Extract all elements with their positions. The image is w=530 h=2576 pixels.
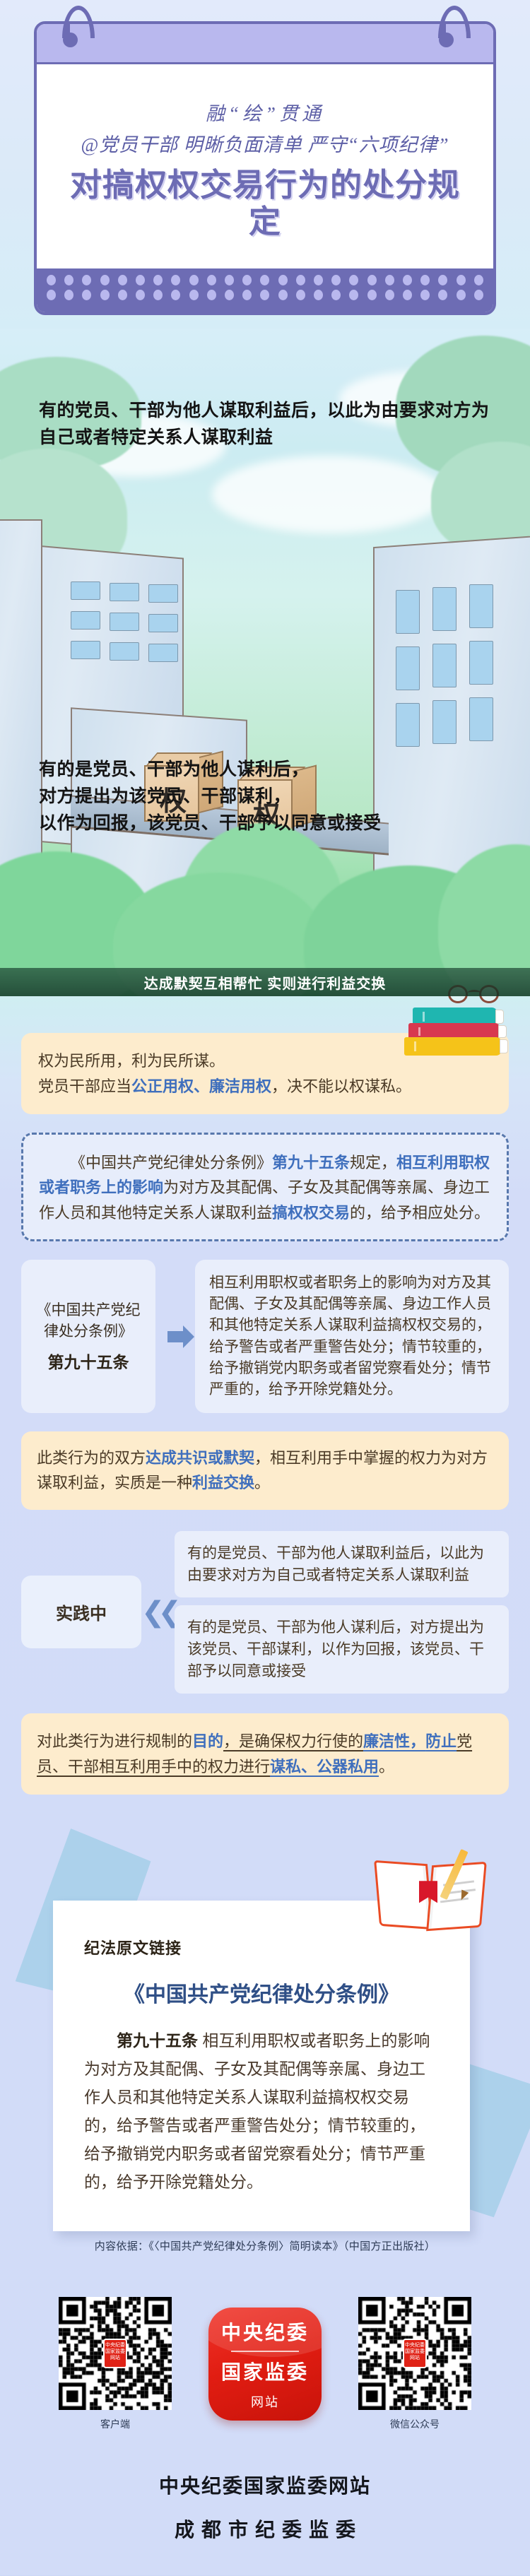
window [432,587,457,631]
app-logo-line2: 国家监委 [221,2357,309,2385]
practice-label: 实践中 [21,1576,141,1648]
law-label-article-no: 第九十五条 [48,1349,129,1373]
illustration-text-bottom-line3: 以作为回报，该党员、干部予以同意或接受 [39,810,498,837]
arrow-right-icon [155,1260,195,1413]
window [148,614,178,632]
purpose-part-b: ，是确保权力行使的 [223,1732,363,1750]
principle-hl-clean-power: 廉洁用权 [209,1077,271,1095]
practice-item-1: 有的是党员、干部为他人谋取利益后，以此为由要求对方为自己或者特定关系人谋取利益 [175,1531,509,1597]
window [469,641,493,685]
window [71,581,100,600]
nature-callout-box: 此类行为的双方达成共识或默契，相互利用手中掌握的权力为对方谋取利益，实质是一种利… [21,1431,509,1509]
book-stack-icon [407,988,513,1053]
window [432,700,457,744]
purpose-hl-goal: 目的 [192,1732,223,1750]
practice-section: 实践中 ❮❮ 有的是党员、干部为他人谋取利益后，以此为由要求对方为自己或者特定关… [21,1531,509,1694]
dashbox-part-b: 规定， [350,1154,396,1171]
law-article-label: 《中国共产党纪 律处分条例》 第九十五条 [21,1260,155,1413]
dashbox-hl-power-trade: 搞权权交易 [272,1204,350,1222]
window [469,697,493,741]
book-yellow [404,1037,502,1056]
app-logo-divider [231,2351,299,2352]
law-article-text: 相互利用职权或者职务上的影响为对方及其配偶、子女及其配偶等亲属、身边工作人员和其… [195,1260,509,1413]
qr-logo-wechat-icon: 中央纪委国家监委网站 [403,2339,427,2368]
page-title: 对搞权权交易行为的处分规定 [55,167,475,240]
qr-block-wechat: 中央纪委国家监委网站 微信公众号 [358,2297,471,2431]
cloud-shape [212,456,445,533]
chevron-left-double-icon: ❮❮ [141,1598,175,1626]
purpose-hl-prevent: 防止 [425,1732,457,1750]
footer-qr-row: 中央纪委国家监委网站 客户端 中央纪委 国家监委 网站 中央纪委国家监委网站 微… [0,2297,530,2431]
law-original-title: 《中国共产党纪律处分条例》 [84,1977,439,2008]
nature-part-a: 此类行为的双方 [37,1449,146,1467]
dashbox-part-a: 《中国共产党纪律处分条例》 [70,1154,272,1171]
window [110,583,139,601]
app-logo: 中央纪委 国家监委 网站 [208,2308,322,2421]
purpose-part-d: 。 [379,1758,394,1776]
notebook-top-band [37,24,493,64]
nature-hl-consensus: 达成共识或默契 [146,1449,254,1467]
source-note: 内容依据：《〈中国共产党纪律处分条例〉简明读本》（中国方正出版社） [21,2238,509,2253]
law-article-row: 《中国共产党纪 律处分条例》 第九十五条 相互利用职权或者职务上的影响为对方及其… [21,1260,509,1413]
practice-item-2: 有的是党员、干部为他人谋利后，对方提出为该党员、干部谋利，以作为回报，该党员、干… [175,1605,509,1694]
window [148,644,178,662]
principle-hl-fair-power: 公正用权、 [131,1077,209,1095]
purpose-hl-integrity: 廉洁性， [363,1732,425,1750]
illustration-text-top: 有的党员、干部为他人谋取利益后，以此为由要求对方为自己或者特定关系人谋取利益 [39,397,491,451]
window [110,613,139,631]
purpose-part-a: 对此类行为进行规制的 [37,1732,192,1750]
dashbox-part-d: 的，给予相应处分。 [350,1204,490,1222]
law-label-line1: 《中国共产党纪 [37,1300,141,1321]
window [469,584,493,628]
app-logo-line3: 网站 [251,2392,279,2411]
illustration-section: 有的党员、干部为他人谋取利益后，以此为由要求对方为自己或者特定关系人谋取利益 [0,329,530,996]
nature-hl-interest-exchange: 利益交换 [192,1474,254,1491]
title-notebook-card: 融“绘”贯通 @党员干部 明晰负面清单 严守“六项纪律” 对搞权权交易行为的处分… [34,21,496,315]
illustration-caption-text: 达成默契互相帮忙 实则进行利益交换 [144,972,387,993]
header-subtitle-line2: @党员干部 明晰负面清单 严守“六项纪律” [55,129,475,157]
window [148,584,178,603]
law-original-body: 第九十五条 相互利用职权或者职务上的影响为对方及其配偶、子女及其配偶等亲属、身边… [84,2026,439,2196]
purpose-callout-box: 对此类行为进行规制的目的，是确保权力行使的廉洁性，防止党员、干部相互利用手中的权… [21,1713,509,1795]
footer-org-line1: 中央纪委国家监委网站 [0,2471,530,2499]
binder-ring-left-icon [62,6,95,61]
law-original-card: 纪法原文链接 《中国共产党纪律处分条例》 第九十五条 相互利用职权或者职务上的影… [53,1901,470,2231]
notebook-body: 融“绘”贯通 @党员干部 明晰负面清单 严守“六项纪律” 对搞权权交易行为的处分… [37,64,493,268]
principle-line-2: 党员干部应当公正用权、廉洁用权，决不能以权谋私。 [38,1074,492,1099]
law-original-card-wrap: 纪法原文链接 《中国共产党纪律处分条例》 第九十五条 相互利用职权或者职务上的影… [21,1836,509,2231]
window [71,611,100,630]
qr-block-app: 中央纪委国家监委网站 客户端 [59,2297,172,2431]
principle-line-2-a: 党员干部应当 [38,1077,131,1095]
header-section: 融“绘”贯通 @党员干部 明晰负面清单 严守“六项纪律” 对搞权权交易行为的处分… [0,0,530,329]
law-original-article-no: 第九十五条 [117,2031,198,2050]
window [110,642,139,661]
header-subtitle-line1: 融“绘”贯通 [55,98,475,126]
content-section: 权为民所用，利为民所谋。 党员干部应当公正用权、廉洁用权，决不能以权谋私。 《中… [0,996,530,2253]
open-book-icon [367,1850,494,1942]
illustration-text-bottom-line2: 对方提出为该党员、干部谋利， [39,783,498,810]
principle-callout-box: 权为民所用，利为民所谋。 党员干部应当公正用权、廉洁用权，决不能以权谋私。 [21,1033,509,1114]
qr-code-app[interactable]: 中央纪委国家监委网站 [59,2297,172,2410]
regulation-dashed-box: 《中国共产党纪律处分条例》第九十五条规定，相互利用职权或者职务上的影响为对方及其… [21,1133,509,1241]
window [432,644,457,687]
qr-caption-wechat: 微信公众号 [358,2417,471,2431]
dashbox-hl-article: 第九十五条 [272,1154,350,1171]
illustration-text-bottom-line1: 有的是党员、干部为他人谋利后， [39,756,498,783]
illustration-text-bottom: 有的是党员、干部为他人谋利后， 对方提出为该党员、干部谋利， 以作为回报，该党员… [39,756,498,837]
qr-code-wechat[interactable]: 中央纪委国家监委网站 [358,2297,471,2410]
law-label-line2: 律处分条例》 [44,1321,133,1342]
notebook-foot-band [37,268,493,312]
practice-items: 有的是党员、干部为他人谋取利益后，以此为由要求对方为自己或者特定关系人谋取利益 … [175,1531,509,1694]
law-original-article-text: 相互利用职权或者职务上的影响为对方及其配偶、子女及其配偶等亲属、身边工作人员和其… [84,2031,430,2191]
qr-caption-app: 客户端 [59,2417,172,2431]
principle-line-2-b: ，决不能以权谋私。 [271,1077,411,1095]
window [396,703,420,747]
binder-ring-right-icon [438,6,471,61]
purpose-hl-private-gain: 谋私、公器私用 [270,1758,379,1776]
footer-section: 中央纪委国家监委网站 客户端 中央纪委 国家监委 网站 中央纪委国家监委网站 微… [0,2253,530,2575]
footer-org-line2: 成都市纪委监委 [0,2515,530,2543]
perforation-row-1 [47,275,483,285]
window [396,646,420,690]
nature-part-c: 。 [254,1474,270,1491]
qr-logo-app-icon: 中央纪委国家监委网站 [103,2339,127,2368]
app-logo-line1: 中央纪委 [221,2317,309,2346]
illustration-caption-bar: 达成默契互相帮忙 实则进行利益交换 [0,968,530,996]
perforation-row-2 [47,290,483,300]
window [396,590,420,634]
infographic-page: 融“绘”贯通 @党员干部 明晰负面清单 严守“六项纪律” 对搞权权交易行为的处分… [0,0,530,2576]
window [71,641,100,659]
